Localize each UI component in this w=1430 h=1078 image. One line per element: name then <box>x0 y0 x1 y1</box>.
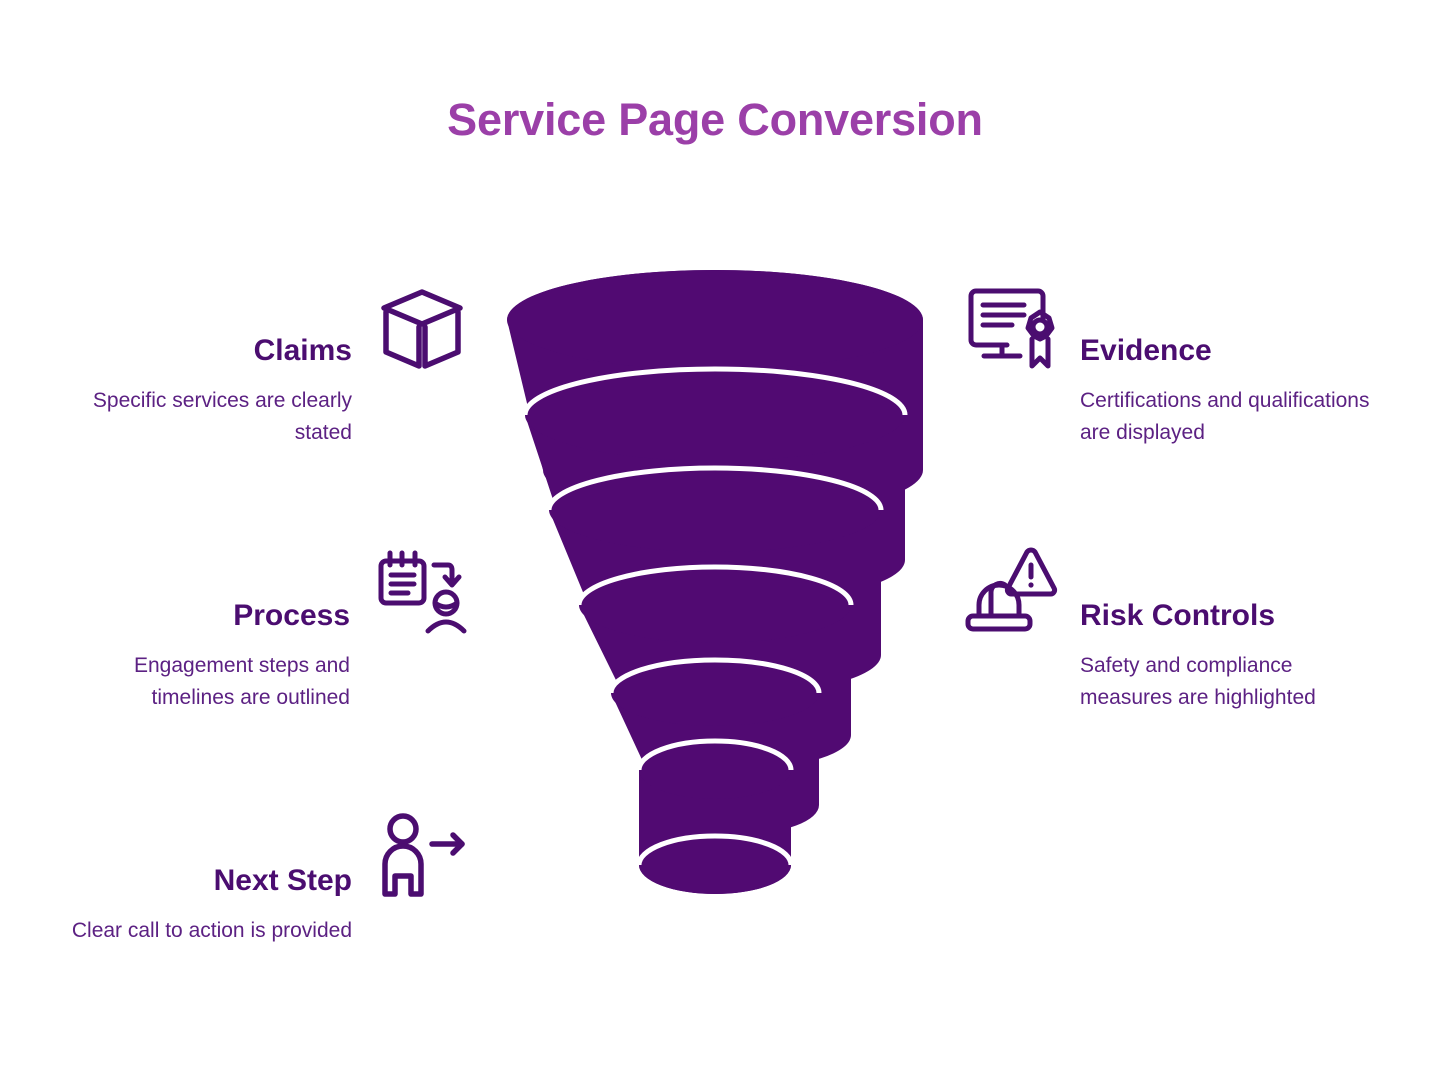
conversion-funnel-graphic <box>465 265 965 925</box>
item-next-step-text: Next Step Clear call to action is provid… <box>62 808 352 947</box>
funnel-svg <box>465 265 965 925</box>
person-head <box>390 816 416 842</box>
item-risk-controls-text: Risk Controls Safety and compliance meas… <box>1080 543 1390 714</box>
item-process: Process Engagement steps and timelines a… <box>58 543 468 714</box>
hardhat-brim <box>968 616 1030 629</box>
hardhat-dome <box>979 585 1019 616</box>
item-risk-controls-description: Safety and compliance measures are highl… <box>1080 650 1390 714</box>
item-evidence-text: Evidence Certifications and qualificatio… <box>1080 278 1390 449</box>
funnel-segment-1-top <box>507 270 923 370</box>
item-claims: Claims Specific services are clearly sta… <box>60 278 470 449</box>
item-risk-controls-title: Risk Controls <box>1080 599 1275 632</box>
item-claims-text: Claims Specific services are clearly sta… <box>60 278 352 449</box>
item-next-step: Next Step Clear call to action is provid… <box>62 808 470 947</box>
person-head-detail <box>435 603 457 607</box>
warning-exclamation-dot <box>1028 582 1033 587</box>
notepad-arrow-person-icon <box>372 543 468 639</box>
item-next-step-title: Next Step <box>214 864 352 897</box>
hardhat-warning-icon <box>962 543 1058 639</box>
notepad-lines <box>391 575 414 593</box>
certificate-lines <box>983 305 1024 325</box>
page-title: Service Page Conversion <box>0 94 1430 146</box>
item-evidence-description: Certifications and qualifications are di… <box>1080 385 1390 449</box>
certificate-award-icon <box>962 278 1058 374</box>
hardhat-ridge <box>991 583 1005 616</box>
item-process-description: Engagement steps and timelines are outli… <box>58 650 350 714</box>
person-arrow-icon <box>374 808 470 904</box>
item-next-step-description: Clear call to action is provided <box>72 915 352 947</box>
item-claims-title: Claims <box>254 334 352 367</box>
item-evidence-title: Evidence <box>1080 334 1212 367</box>
open-box-icon <box>374 278 470 374</box>
award-seal-inner <box>1033 320 1047 334</box>
award-ribbon <box>1032 339 1048 366</box>
item-evidence: Evidence Certifications and qualificatio… <box>962 278 1390 449</box>
item-process-title: Process <box>233 599 350 632</box>
funnel-segments <box>507 270 923 894</box>
person-body <box>385 846 421 894</box>
item-process-text: Process Engagement steps and timelines a… <box>58 543 350 714</box>
box-lid <box>384 292 460 324</box>
person-shoulders <box>428 622 464 631</box>
item-claims-description: Specific services are clearly stated <box>60 385 352 449</box>
item-risk-controls: Risk Controls Safety and compliance meas… <box>962 543 1390 714</box>
